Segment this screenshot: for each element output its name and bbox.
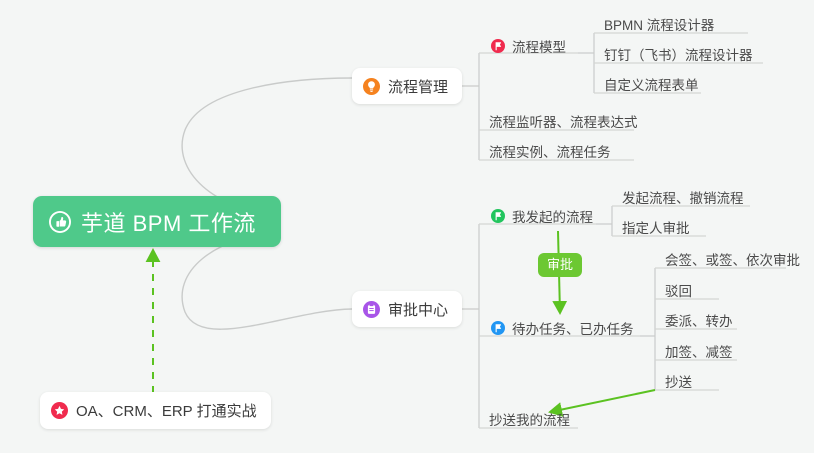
node-label: 流程模型 xyxy=(512,36,566,56)
node-label: 我发起的流程 xyxy=(512,206,593,226)
node-cc-to-me-process[interactable]: 抄送我的流程 xyxy=(485,406,580,435)
node-countersign[interactable]: 会签、或签、依次审批 xyxy=(661,246,810,275)
node-listener-expression[interactable]: 流程监听器、流程表达式 xyxy=(485,108,648,137)
annotation-tag-approval: 审批 xyxy=(538,253,582,277)
node-assigned-approval[interactable]: 指定人审批 xyxy=(618,214,700,243)
node-label: 指定人审批 xyxy=(622,221,690,236)
floating-node-integration[interactable]: OA、CRM、ERP 打通实战 xyxy=(40,392,271,429)
node-dingtalk-designer[interactable]: 钉钉（飞书）流程设计器 xyxy=(600,41,763,70)
node-label: 抄送我的流程 xyxy=(489,413,570,428)
node-label: 自定义流程表单 xyxy=(604,78,699,93)
node-label: 驳回 xyxy=(665,284,692,299)
mindmap-canvas: 芋道 BPM 工作流 流程管理 流程模型 BPMN 流程设计器 钉钉（飞书）流程… xyxy=(0,0,814,453)
node-label: 委派、转办 xyxy=(665,314,733,329)
floating-node-label: OA、CRM、ERP 打通实战 xyxy=(76,400,257,421)
node-label: 待办任务、已办任务 xyxy=(512,318,634,338)
node-label: 发起流程、撤销流程 xyxy=(622,191,744,206)
root-node[interactable]: 芋道 BPM 工作流 xyxy=(33,196,281,247)
branch-label: 流程管理 xyxy=(388,76,448,97)
node-process-model[interactable]: 流程模型 xyxy=(489,33,576,62)
node-custom-form[interactable]: 自定义流程表单 xyxy=(600,71,709,100)
node-start-cancel-process[interactable]: 发起流程、撤销流程 xyxy=(618,184,754,213)
node-label: 加签、减签 xyxy=(665,345,733,360)
node-label: 流程监听器、流程表达式 xyxy=(489,115,638,130)
flag-icon xyxy=(491,321,505,335)
node-label: BPMN 流程设计器 xyxy=(604,18,714,33)
branch-node-process-management[interactable]: 流程管理 xyxy=(352,68,462,104)
node-add-remove-sign[interactable]: 加签、减签 xyxy=(661,338,743,367)
node-reject[interactable]: 驳回 xyxy=(661,277,702,306)
annotation-label: 审批 xyxy=(547,257,573,272)
flag-icon xyxy=(491,209,505,223)
flag-icon xyxy=(491,39,505,53)
branch-node-approval-center[interactable]: 审批中心 xyxy=(352,291,462,327)
node-bpmn-designer[interactable]: BPMN 流程设计器 xyxy=(600,11,724,40)
clipboard-icon xyxy=(363,301,380,318)
node-todo-done-tasks[interactable]: 待办任务、已办任务 xyxy=(489,315,644,344)
root-label: 芋道 BPM 工作流 xyxy=(81,206,256,238)
star-icon xyxy=(51,402,68,419)
thumbs-up-icon xyxy=(49,211,71,233)
node-label: 会签、或签、依次审批 xyxy=(665,253,800,268)
node-label: 流程实例、流程任务 xyxy=(489,145,611,160)
node-instance-task[interactable]: 流程实例、流程任务 xyxy=(485,138,621,167)
node-cc[interactable]: 抄送 xyxy=(661,368,702,397)
node-my-initiated-process[interactable]: 我发起的流程 xyxy=(489,203,603,232)
lightbulb-icon xyxy=(363,78,380,95)
node-label: 抄送 xyxy=(665,375,692,390)
branch-label: 审批中心 xyxy=(388,299,448,320)
node-delegate-transfer[interactable]: 委派、转办 xyxy=(661,307,743,336)
node-label: 钉钉（飞书）流程设计器 xyxy=(604,48,753,63)
